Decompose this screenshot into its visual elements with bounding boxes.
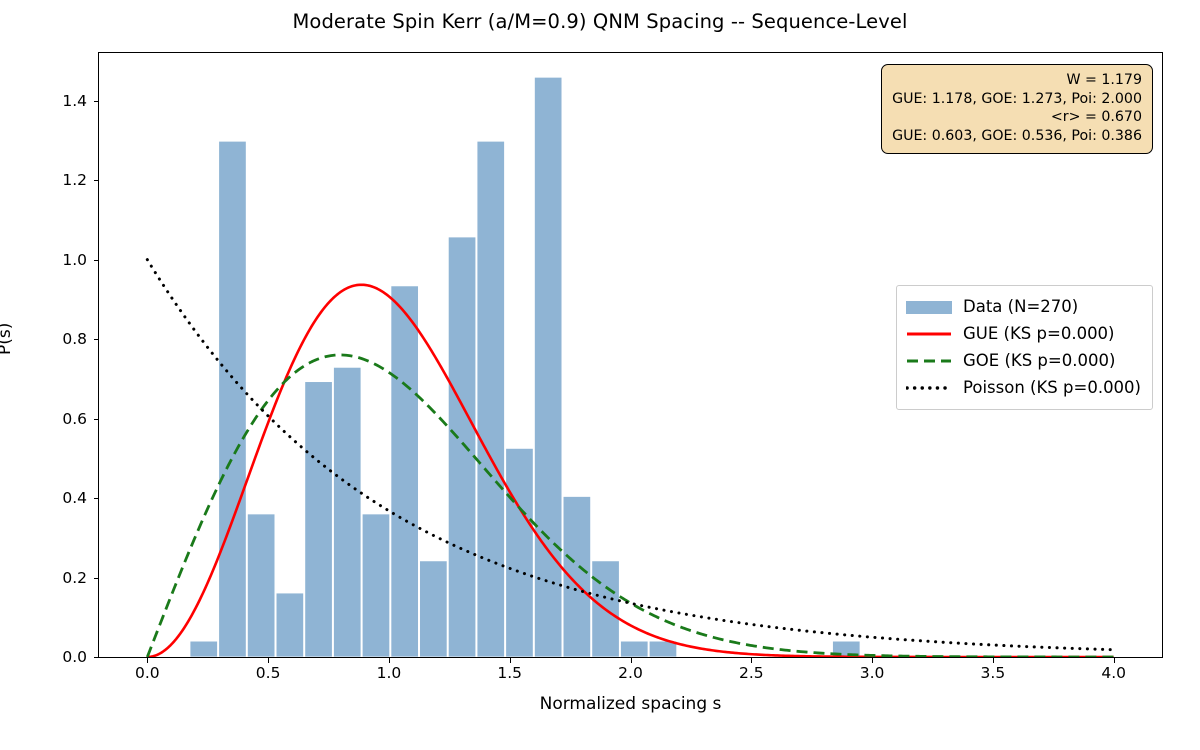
histogram-bar: [276, 593, 304, 657]
histogram-bar: [305, 382, 333, 657]
stats-line-w: W = 1.179: [892, 71, 1142, 90]
stats-line-r-refs: GUE: 0.603, GOE: 0.536, Poi: 0.386: [892, 127, 1142, 146]
figure-canvas: Moderate Spin Kerr (a/M=0.9) QNM Spacing…: [0, 0, 1200, 750]
y-tick-mark: [94, 339, 99, 340]
y-axis-label: P(s): [0, 323, 15, 355]
y-tick-mark: [94, 260, 99, 261]
chart-title: Moderate Spin Kerr (a/M=0.9) QNM Spacing…: [0, 10, 1200, 33]
legend-key-dashed: [906, 352, 952, 370]
legend-label: Data (N=270): [963, 297, 1078, 316]
y-tick-mark: [94, 101, 99, 102]
histogram-bar: [506, 448, 534, 657]
statistics-annotation-box: W = 1.179 GUE: 1.178, GOE: 1.273, Poi: 2…: [881, 64, 1153, 154]
histogram-bar: [477, 141, 505, 657]
y-tick-mark: [94, 419, 99, 420]
y-tick-label: 1.0: [62, 251, 87, 269]
histogram-bar: [621, 641, 649, 657]
y-tick-mark: [94, 657, 99, 658]
histogram-bar: [190, 641, 218, 657]
x-tick-mark: [993, 658, 994, 663]
histogram-bar: [362, 514, 390, 657]
histogram-bar: [534, 77, 562, 657]
x-tick-label: 3.0: [860, 664, 885, 682]
stats-line-r: <r> = 0.670: [892, 108, 1142, 127]
legend-label: GUE (KS p=0.000): [963, 324, 1114, 343]
x-tick-mark: [631, 658, 632, 663]
y-tick-label: 1.4: [62, 92, 87, 110]
x-tick-mark: [872, 658, 873, 663]
x-tick-label: 4.0: [1101, 664, 1126, 682]
legend-row[interactable]: Data (N=270): [906, 293, 1141, 320]
legend-label: Poisson (KS p=0.000): [963, 378, 1141, 397]
histogram-bar: [334, 367, 362, 657]
legend-line-sample: [906, 352, 952, 370]
legend-key-dotted: [906, 379, 952, 397]
legend-key-patch: [906, 298, 952, 316]
legend-key-solid: [906, 325, 952, 343]
x-tick-mark: [147, 658, 148, 663]
histogram-bar: [420, 561, 448, 657]
chart-legend: Data (N=270)GUE (KS p=0.000)GOE (KS p=0.…: [896, 285, 1153, 410]
y-tick-label: 0.4: [62, 489, 87, 507]
legend-row[interactable]: GUE (KS p=0.000): [906, 320, 1141, 347]
legend-line-sample: [906, 325, 952, 343]
y-tick-mark: [94, 578, 99, 579]
legend-label: GOE (KS p=0.000): [963, 351, 1115, 370]
x-tick-label: 0.0: [135, 664, 160, 682]
x-axis-label: Normalized spacing s: [98, 694, 1163, 714]
y-tick-label: 0.0: [62, 648, 87, 666]
x-tick-label: 2.0: [618, 664, 643, 682]
x-tick-mark: [510, 658, 511, 663]
y-tick-label: 1.2: [62, 171, 87, 189]
x-tick-mark: [751, 658, 752, 663]
histogram-bar: [563, 496, 591, 657]
x-tick-label: 1.0: [377, 664, 402, 682]
y-tick-label: 0.8: [62, 330, 87, 348]
histogram-bar: [219, 141, 247, 657]
x-tick-label: 1.5: [497, 664, 522, 682]
y-tick-label: 0.2: [62, 569, 87, 587]
x-tick-mark: [389, 658, 390, 663]
y-tick-mark: [94, 180, 99, 181]
x-tick-mark: [268, 658, 269, 663]
stats-line-w-refs: GUE: 1.178, GOE: 1.273, Poi: 2.000: [892, 90, 1142, 109]
x-tick-mark: [1114, 658, 1115, 663]
histogram-bar: [448, 237, 476, 657]
legend-color-patch: [906, 301, 952, 314]
histogram-bar: [247, 514, 275, 657]
x-tick-label: 0.5: [256, 664, 281, 682]
x-tick-label: 3.5: [981, 664, 1006, 682]
legend-row[interactable]: GOE (KS p=0.000): [906, 347, 1141, 374]
y-tick-label: 0.6: [62, 410, 87, 428]
legend-line-sample: [906, 379, 952, 397]
histogram-bar: [391, 286, 419, 657]
legend-row[interactable]: Poisson (KS p=0.000): [906, 374, 1141, 401]
y-tick-mark: [94, 498, 99, 499]
x-tick-label: 2.5: [739, 664, 764, 682]
